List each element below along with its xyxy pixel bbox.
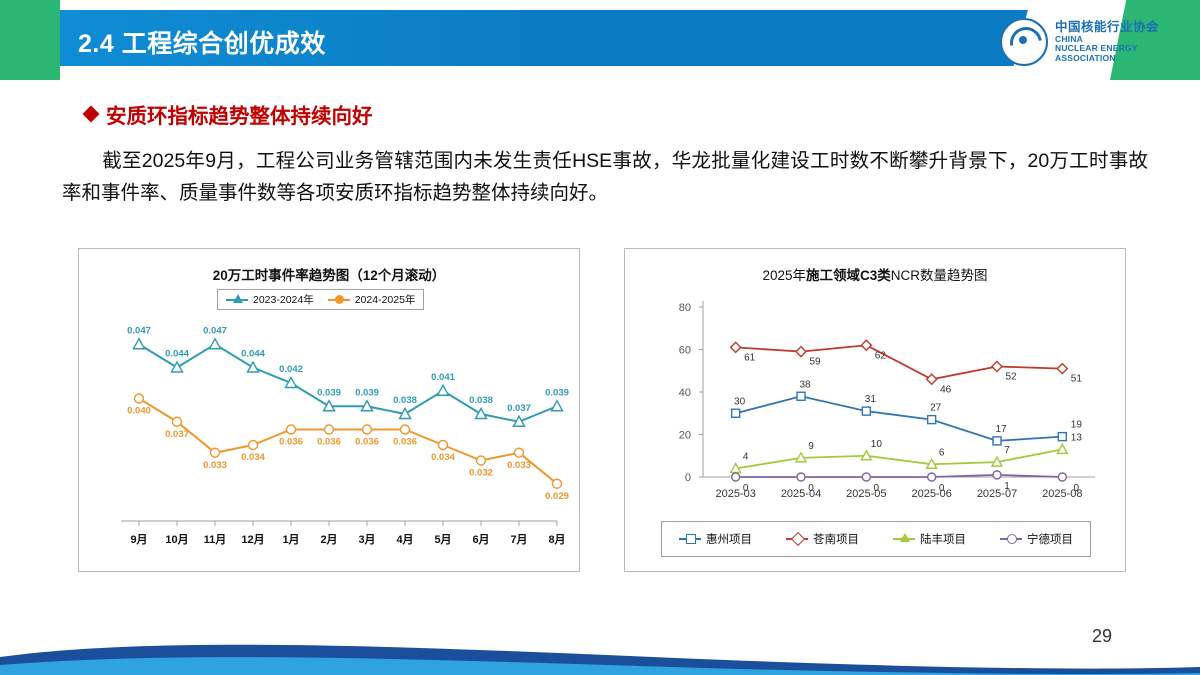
svg-text:0.041: 0.041	[431, 372, 455, 383]
svg-text:51: 51	[1071, 374, 1083, 385]
svg-text:60: 60	[679, 345, 691, 357]
legend-marker-1	[328, 299, 350, 301]
svg-text:10月: 10月	[165, 533, 188, 546]
svg-text:0.034: 0.034	[241, 452, 265, 463]
svg-text:31: 31	[865, 394, 877, 405]
header-green-left	[0, 0, 60, 80]
svg-text:7月: 7月	[510, 533, 527, 546]
svg-text:1: 1	[1004, 481, 1010, 492]
svg-text:5月: 5月	[434, 533, 451, 546]
chart-panel-right: 2025年施工领域C3类NCR数量趋势图 0204060802025-03202…	[624, 248, 1126, 572]
svg-text:0.036: 0.036	[355, 437, 379, 448]
legend-label-cangnan: 苍南项目	[813, 531, 859, 547]
svg-text:0.044: 0.044	[241, 349, 265, 360]
chart-right-legend: 惠州项目 苍南项目 陆丰项目 宁德项目	[661, 521, 1091, 557]
legend-item-1: 2024-2025年	[328, 292, 416, 307]
legend-item-lufeng: 陆丰项目	[893, 531, 966, 547]
svg-text:0.047: 0.047	[127, 325, 151, 336]
svg-text:2月: 2月	[320, 533, 337, 546]
svg-text:0.037: 0.037	[165, 429, 189, 440]
legend-marker-ningde	[1000, 538, 1022, 540]
svg-text:80: 80	[679, 302, 691, 314]
section-paragraph: 截至2025年9月，工程公司业务管辖范围内未发生责任HSE事故，华龙批量化建设工…	[62, 146, 1148, 209]
svg-text:0: 0	[1074, 483, 1080, 494]
svg-text:0.036: 0.036	[279, 437, 303, 448]
svg-text:0: 0	[939, 483, 945, 494]
svg-text:0: 0	[874, 483, 880, 494]
svg-text:19: 19	[1071, 420, 1083, 431]
svg-text:0.037: 0.037	[507, 403, 531, 414]
logo-name-cn: 中国核能行业协会	[1055, 20, 1159, 34]
svg-text:6月: 6月	[472, 533, 489, 546]
svg-text:0.044: 0.044	[165, 349, 189, 360]
paragraph-text: 截至2025年9月，工程公司业务管辖范围内未发生责任HSE事故，华龙批量化建设工…	[62, 150, 1148, 204]
chart-left-legend: 2023-2024年 2024-2025年	[217, 289, 424, 310]
svg-text:8月: 8月	[548, 533, 565, 546]
svg-text:2025-05: 2025-05	[846, 488, 886, 500]
legend-item-ningde: 宁德项目	[1000, 531, 1073, 547]
legend-label-lufeng: 陆丰项目	[920, 531, 966, 547]
svg-text:2025-07: 2025-07	[977, 488, 1017, 500]
page-header: 2.4 工程综合创优成效 中国核能行业协会 CHINA NUCLEAR ENER…	[0, 0, 1200, 80]
legend-label-0: 2023-2024年	[253, 292, 314, 307]
legend-marker-cangnan	[786, 538, 808, 540]
page-title: 2.4 工程综合创优成效	[78, 24, 326, 60]
svg-text:0.034: 0.034	[431, 452, 455, 463]
svg-text:0.033: 0.033	[507, 460, 531, 471]
svg-text:0.038: 0.038	[393, 395, 417, 406]
svg-text:0.039: 0.039	[545, 387, 569, 398]
legend-label-huizhou: 惠州项目	[706, 531, 752, 547]
chart-right-title: 2025年施工领域C3类NCR数量趋势图	[625, 264, 1125, 284]
svg-text:6: 6	[939, 447, 945, 458]
svg-text:12月: 12月	[241, 533, 264, 546]
chart-panel-left: 20万工时事件率趋势图（12个月滚动） 2023-2024年 2024-2025…	[78, 248, 580, 572]
svg-text:0.039: 0.039	[317, 387, 341, 398]
legend-item-huizhou: 惠州项目	[679, 531, 752, 547]
logo-icon	[1000, 18, 1048, 66]
legend-marker-huizhou	[679, 538, 701, 540]
svg-text:0.047: 0.047	[203, 325, 227, 336]
svg-text:62: 62	[875, 350, 887, 361]
svg-text:0.036: 0.036	[393, 437, 417, 448]
svg-text:9: 9	[808, 441, 814, 452]
svg-text:13: 13	[1071, 432, 1083, 443]
chart-left-title: 20万工时事件率趋势图（12个月滚动）	[79, 264, 579, 284]
svg-text:40: 40	[679, 387, 691, 399]
svg-text:59: 59	[809, 357, 821, 368]
svg-text:9月: 9月	[130, 533, 147, 546]
svg-text:1月: 1月	[282, 533, 299, 546]
svg-text:0: 0	[685, 472, 691, 484]
legend-item-0: 2023-2024年	[226, 292, 314, 307]
svg-text:61: 61	[744, 352, 756, 363]
association-logo: 中国核能行业协会 CHINA NUCLEAR ENERGY ASSOCIATIO…	[1000, 18, 1159, 66]
svg-text:0.032: 0.032	[469, 468, 493, 479]
svg-text:0.036: 0.036	[317, 437, 341, 448]
legend-marker-0	[226, 299, 248, 301]
svg-text:2025-06: 2025-06	[911, 488, 951, 500]
svg-text:0.029: 0.029	[545, 491, 569, 502]
svg-text:30: 30	[734, 396, 746, 407]
svg-text:17: 17	[995, 424, 1007, 435]
svg-text:38: 38	[799, 379, 811, 390]
svg-text:4: 4	[743, 452, 749, 463]
legend-label-1: 2024-2025年	[355, 292, 416, 307]
legend-item-cangnan: 苍南项目	[786, 531, 859, 547]
legend-label-ningde: 宁德项目	[1027, 531, 1073, 547]
svg-text:27: 27	[930, 403, 942, 414]
svg-text:3月: 3月	[358, 533, 375, 546]
svg-text:2025-03: 2025-03	[715, 488, 755, 500]
footer-decoration	[0, 641, 1200, 675]
svg-text:0.039: 0.039	[355, 387, 379, 398]
svg-text:0: 0	[808, 483, 814, 494]
svg-text:0: 0	[743, 483, 749, 494]
svg-text:46: 46	[940, 384, 952, 395]
svg-text:7: 7	[1004, 445, 1010, 456]
svg-text:2025-04: 2025-04	[781, 488, 821, 500]
svg-text:11月: 11月	[204, 533, 227, 546]
svg-text:0.038: 0.038	[469, 395, 493, 406]
svg-text:4月: 4月	[396, 533, 413, 546]
legend-marker-lufeng	[893, 538, 915, 540]
svg-text:10: 10	[871, 439, 883, 450]
svg-text:20: 20	[679, 430, 691, 442]
logo-name-en-3: ASSOCIATION	[1055, 54, 1159, 64]
svg-text:0.040: 0.040	[127, 406, 151, 417]
section-bullet: 安质环指标趋势整体持续向好	[85, 99, 373, 129]
section-bullet-label: 安质环指标趋势整体持续向好	[106, 99, 373, 129]
svg-text:0.042: 0.042	[279, 364, 303, 375]
svg-text:0.033: 0.033	[203, 460, 227, 471]
svg-text:52: 52	[1005, 372, 1017, 383]
diamond-icon	[83, 106, 100, 123]
